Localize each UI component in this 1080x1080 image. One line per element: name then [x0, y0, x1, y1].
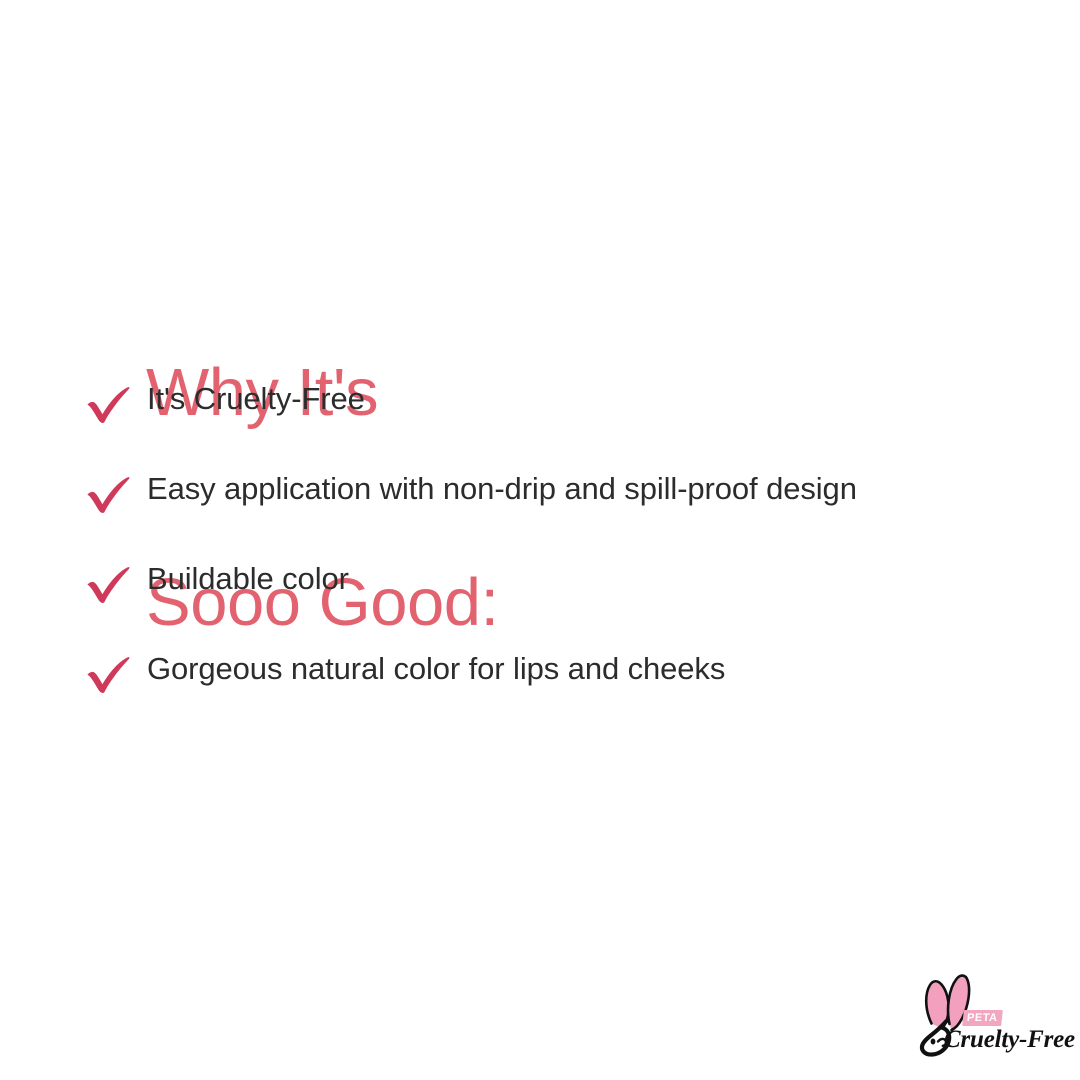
list-item: Buildable color	[0, 558, 1080, 648]
peta-cruelty-free-logo: PETA Cruelty-Free	[918, 968, 1068, 1064]
list-item-label: Easy application with non-drip and spill…	[147, 468, 857, 510]
list-item: It's Cruelty-Free	[0, 378, 1080, 468]
promo-card: Why It's Sooo Good: It's Cruelty-Free Ea…	[0, 0, 1080, 1080]
check-icon	[84, 564, 132, 606]
list-item-label: Gorgeous natural color for lips and chee…	[147, 648, 725, 690]
check-icon	[84, 474, 132, 516]
peta-badge: PETA	[962, 1010, 1002, 1026]
list-item: Easy application with non-drip and spill…	[0, 468, 1080, 558]
check-icon	[84, 654, 132, 696]
list-item-label: Buildable color	[147, 558, 349, 600]
cruelty-free-caption: Cruelty-Free	[944, 1026, 1075, 1054]
benefits-list: It's Cruelty-Free Easy application with …	[0, 378, 1080, 738]
list-item-label: It's Cruelty-Free	[147, 378, 365, 420]
list-item: Gorgeous natural color for lips and chee…	[0, 648, 1080, 738]
check-icon	[84, 384, 132, 426]
